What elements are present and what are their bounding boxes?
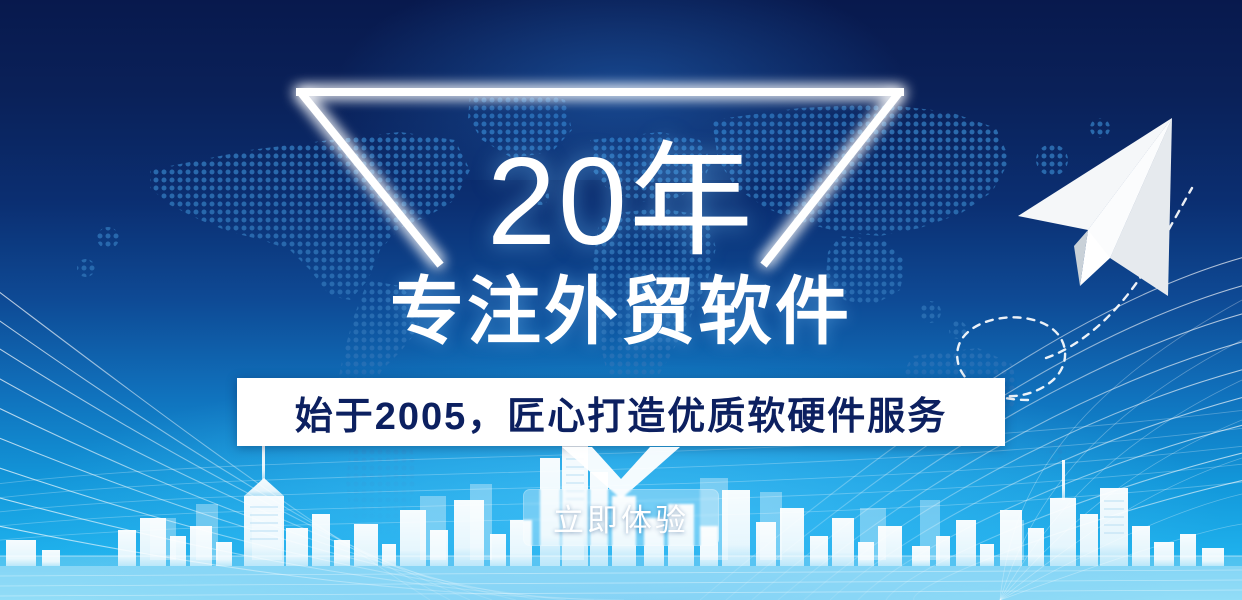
cta-button-label: 立即体验 xyxy=(553,495,689,540)
banner-content: 20年 专注外贸软件 始于2005，匠心打造优质软硬件服务 立即体验 xyxy=(0,0,1242,600)
subtitle-text: 始于2005，匠心打造优质软硬件服务 xyxy=(295,385,948,440)
subtitle-bar: 始于2005，匠心打造优质软硬件服务 xyxy=(237,378,1005,446)
headline-main: 专注外贸软件 xyxy=(0,275,1242,349)
headline-year: 20年 xyxy=(0,140,1242,264)
cta-button[interactable]: 立即体验 xyxy=(523,489,719,546)
promo-banner: 20年 专注外贸软件 始于2005，匠心打造优质软硬件服务 立即体验 xyxy=(0,0,1242,600)
